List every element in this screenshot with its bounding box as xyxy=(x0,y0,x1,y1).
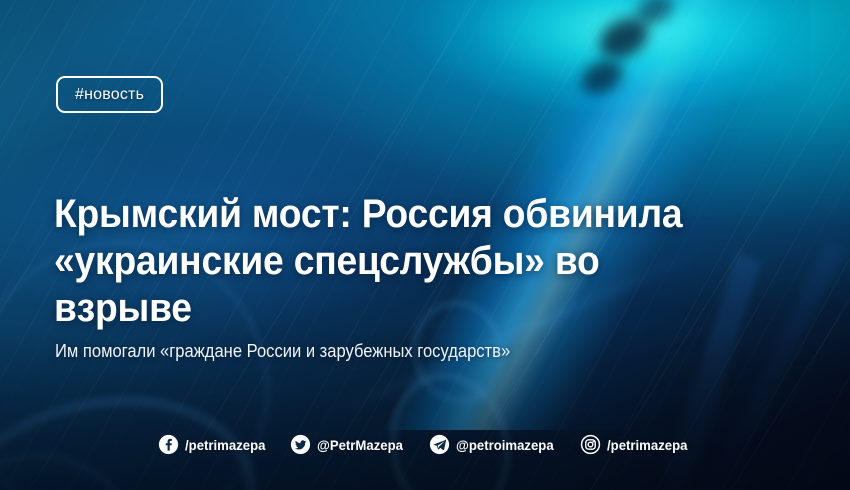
social-handle: @PetrMazepa xyxy=(317,437,403,453)
twitter-icon xyxy=(290,434,311,455)
social-handle: /petrimazepa xyxy=(607,437,687,453)
social-handle: @petroimazepa xyxy=(456,437,554,453)
social-link-twitter[interactable]: @PetrMazepa xyxy=(290,434,408,455)
social-link-instagram[interactable]: /petrimazepa xyxy=(580,434,693,455)
telegram-icon xyxy=(429,434,450,455)
subtitle: Им помогали «граждане России и зарубежны… xyxy=(55,340,717,363)
card-content: #новость Крымский мост: Россия обвинила … xyxy=(0,0,850,490)
headline: Крымский мост: Россия обвинила «украинск… xyxy=(54,191,742,332)
social-link-telegram[interactable]: @petroimazepa xyxy=(429,434,560,455)
category-tag[interactable]: #новость xyxy=(56,76,163,113)
instagram-icon xyxy=(580,434,601,455)
news-card: #новость Крымский мост: Россия обвинила … xyxy=(0,0,850,490)
social-handle: /petrimazepa xyxy=(185,437,265,453)
facebook-icon xyxy=(158,434,179,455)
social-links-bar: /petrimazepa @PetrMazepa xyxy=(0,434,850,455)
social-link-facebook[interactable]: /petrimazepa xyxy=(158,434,271,455)
